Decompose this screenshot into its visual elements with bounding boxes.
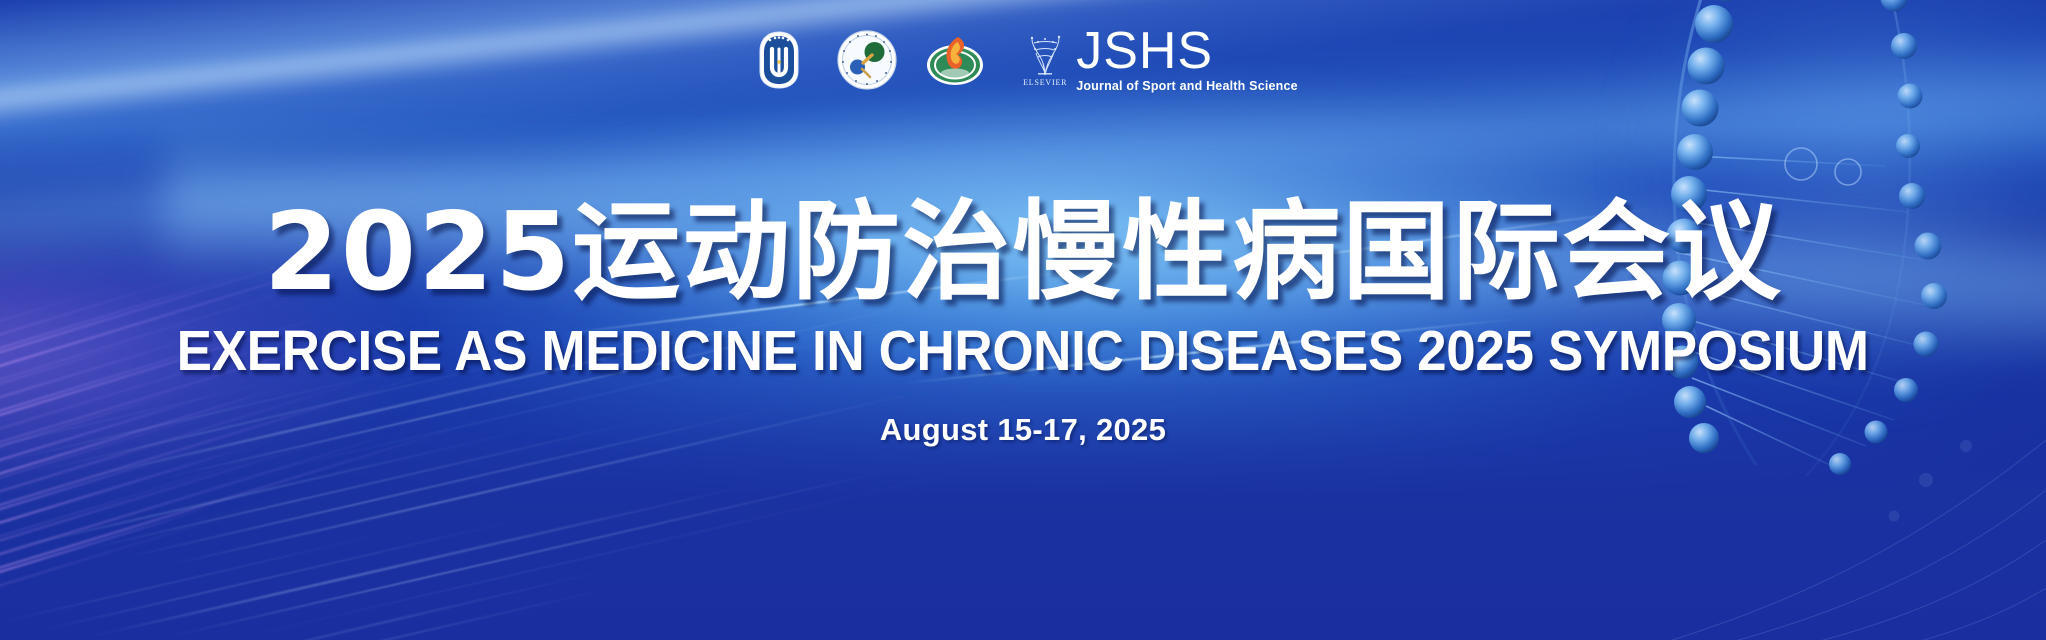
conference-date: August 15-17, 2025 xyxy=(880,412,1166,448)
logo-torch-flame-emblem xyxy=(924,29,986,91)
jshs-logo-lockup: ELSEVIER JSHS Journal of Sport and Healt… xyxy=(1022,28,1298,93)
conference-title-chinese: 2025运动防治慢性病国际会议 xyxy=(264,196,1783,310)
conference-banner: ELSEVIER JSHS Journal of Sport and Healt… xyxy=(0,0,2046,640)
banner-content: 2025运动防治慢性病国际会议 EXERCISE AS MEDICINE IN … xyxy=(0,0,2046,640)
elsevier-wordmark: ELSEVIER xyxy=(1023,78,1067,87)
elsevier-tree-icon xyxy=(1024,33,1066,77)
logo-row: ELSEVIER JSHS Journal of Sport and Healt… xyxy=(0,28,2046,93)
logo-shanghai-university-of-sport-emblem xyxy=(748,29,810,91)
conference-title-english: EXERCISE AS MEDICINE IN CHRONIC DISEASES… xyxy=(177,322,1869,381)
jshs-full-name: Journal of Sport and Health Science xyxy=(1076,79,1298,93)
logo-sports-science-society-emblem xyxy=(836,29,898,91)
jshs-acronym: JSHS xyxy=(1076,28,1298,76)
elsevier-logo: ELSEVIER xyxy=(1022,33,1068,87)
